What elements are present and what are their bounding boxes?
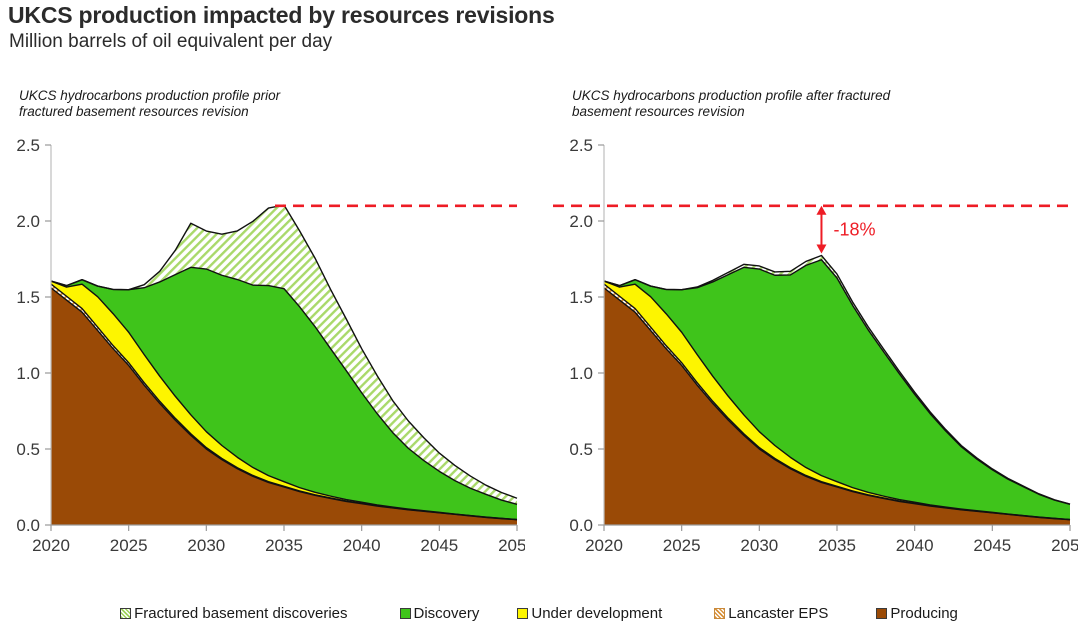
left-panel-caption: UKCS hydrocarbons production profile pri… [19, 88, 280, 120]
delta-arrowhead-down [816, 245, 826, 254]
legend-swatch-under-development [517, 608, 528, 619]
legend-label-discovery: Discovery [414, 605, 480, 622]
y-tick-label: 0.5 [569, 440, 593, 459]
legend-item-fractured-basement-discoveries[interactable]: Fractured basement discoveries [120, 605, 347, 622]
delta-annotation: -18% [816, 206, 875, 254]
legend-swatch-lancaster-eps [714, 608, 725, 619]
x-tick-label: 2020 [32, 536, 70, 555]
delta-arrowhead-up [816, 206, 826, 215]
page-subtitle: Million barrels of oil equivalent per da… [9, 31, 332, 53]
page-title: UKCS production impacted by resources re… [8, 2, 555, 29]
x-tick-label: 2035 [265, 536, 303, 555]
x-tick-label: 2050 [498, 536, 525, 555]
chart-prior-revision: 0.00.51.01.52.02.52020202520302035204020… [0, 135, 525, 555]
chart-legend: Fractured basement discoveriesDiscoveryU… [0, 598, 1078, 628]
x-tick-label: 2025 [663, 536, 701, 555]
y-tick-label: 0.5 [16, 440, 40, 459]
x-tick-label: 2045 [420, 536, 458, 555]
x-tick-label: 2030 [740, 536, 778, 555]
y-tick-label: 2.5 [16, 136, 40, 155]
legend-item-discovery[interactable]: Discovery [400, 605, 480, 622]
y-tick-label: 1.0 [569, 364, 593, 383]
y-tick-label: 1.5 [569, 288, 593, 307]
x-tick-label: 2050 [1051, 536, 1078, 555]
plot-area [51, 205, 517, 525]
x-tick-label: 2040 [896, 536, 934, 555]
y-tick-label: 1.0 [16, 364, 40, 383]
chart-prior-revision-svg: 0.00.51.01.52.02.52020202520302035204020… [0, 135, 525, 555]
legend-swatch-fractured-basement-discoveries [120, 608, 131, 619]
y-tick-label: 2.5 [569, 136, 593, 155]
x-tick-label: 2045 [973, 536, 1011, 555]
y-tick-label: 2.0 [569, 212, 593, 231]
x-tick-label: 2040 [343, 536, 381, 555]
y-tick-label: 0.0 [16, 516, 40, 535]
x-tick-label: 2020 [585, 536, 623, 555]
legend-label-under-development: Under development [531, 605, 662, 622]
legend-row: Fractured basement discoveriesDiscoveryU… [0, 598, 1078, 628]
delta-label: -18% [833, 220, 875, 240]
legend-item-producing[interactable]: Producing [876, 605, 958, 622]
legend-label-producing: Producing [890, 605, 958, 622]
x-tick-label: 2030 [187, 536, 225, 555]
y-tick-label: 0.0 [569, 516, 593, 535]
right-panel-caption: UKCS hydrocarbons production profile aft… [572, 88, 890, 120]
chart-after-revision-svg: 0.00.51.01.52.02.52020202520302035204020… [553, 135, 1078, 555]
y-tick-label: 2.0 [16, 212, 40, 231]
y-tick-label: 1.5 [16, 288, 40, 307]
legend-swatch-producing [876, 608, 887, 619]
legend-item-lancaster-eps[interactable]: Lancaster EPS [714, 605, 828, 622]
legend-label-fractured-basement-discoveries: Fractured basement discoveries [134, 605, 347, 622]
legend-label-lancaster-eps: Lancaster EPS [728, 605, 828, 622]
x-tick-label: 2025 [110, 536, 148, 555]
legend-item-under-development[interactable]: Under development [517, 605, 662, 622]
plot-area [604, 256, 1070, 526]
legend-swatch-discovery [400, 608, 411, 619]
x-tick-label: 2035 [818, 536, 856, 555]
chart-after-revision: 0.00.51.01.52.02.52020202520302035204020… [553, 135, 1078, 555]
